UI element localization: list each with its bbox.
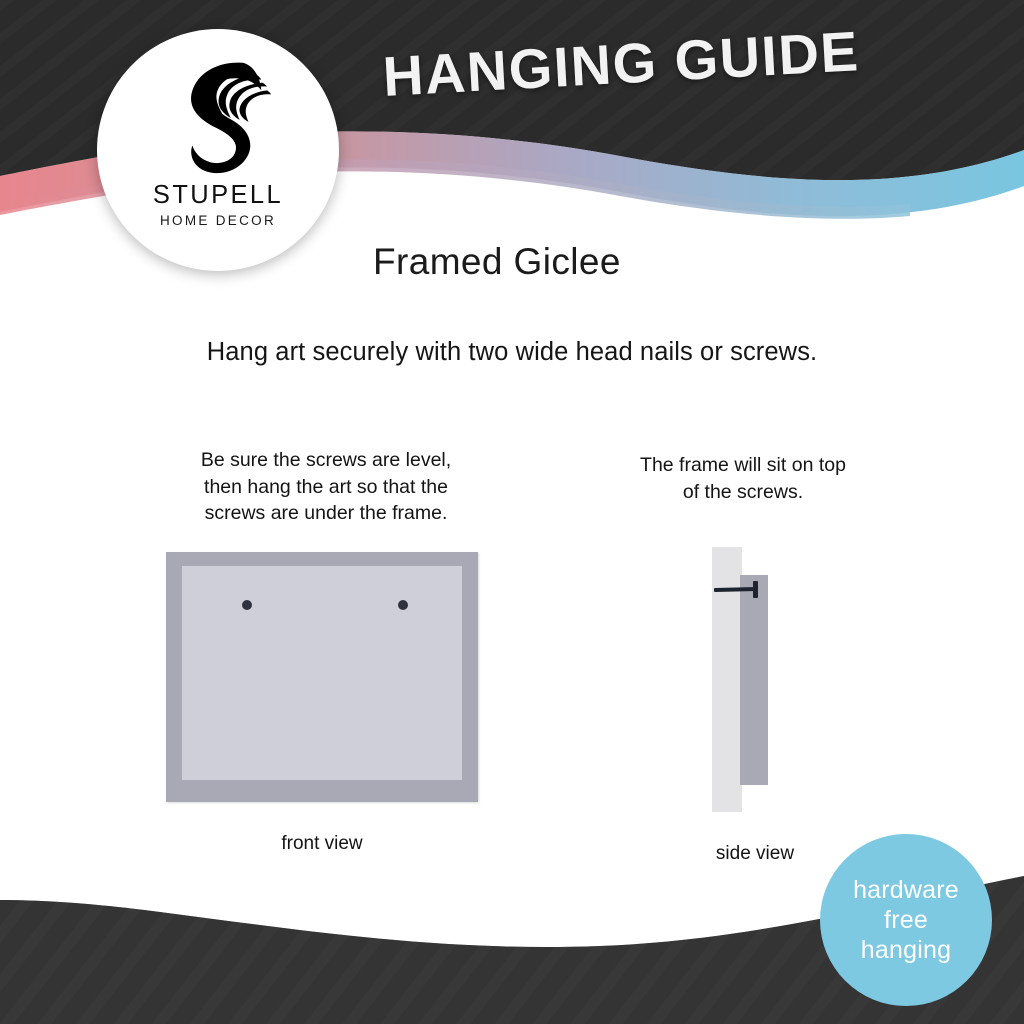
front-view-caption-line-1: Be sure the screws are level, [176, 447, 476, 474]
product-type-title: Framed Giclee [373, 241, 621, 283]
screw-dot-right [398, 600, 408, 610]
front-view-caption-line-3: screws are under the frame. [176, 500, 476, 527]
screw-dot-left [242, 600, 252, 610]
main-instruction-text: Hang art securely with two wide head nai… [0, 338, 1024, 367]
side-view-frame [740, 575, 768, 785]
side-view-caption-line-2: of the screws. [598, 479, 888, 506]
side-view-caption-line-1: The frame will sit on top [598, 452, 888, 479]
logo-tagline: HOME DECOR [160, 213, 276, 228]
stupell-swan-icon [159, 55, 277, 177]
side-view-diagram [700, 540, 810, 825]
front-view-caption: Be sure the screws are level, then hang … [176, 447, 476, 527]
front-view-label: front view [166, 833, 478, 855]
badge-line-1: hardware [853, 875, 959, 905]
nail-head-icon [753, 581, 758, 598]
front-view-caption-line-2: then hang the art so that the [176, 474, 476, 501]
front-view-diagram [166, 552, 478, 802]
brand-logo-badge: STUPELL HOME DECOR [97, 29, 339, 271]
hanging-guide-page: STUPELL HOME DECOR HANGING GUIDE Framed … [0, 0, 1024, 1024]
front-view-artwork-panel [182, 566, 462, 780]
side-view-caption: The frame will sit on top of the screws. [598, 452, 888, 505]
badge-line-2: free [884, 905, 928, 935]
hardware-free-hanging-badge: hardware free hanging [820, 834, 992, 1006]
page-title: HANGING GUIDE [381, 18, 861, 109]
badge-line-3: hanging [861, 935, 951, 965]
side-view-label: side view [640, 843, 870, 865]
logo-wordmark: STUPELL [153, 181, 283, 210]
